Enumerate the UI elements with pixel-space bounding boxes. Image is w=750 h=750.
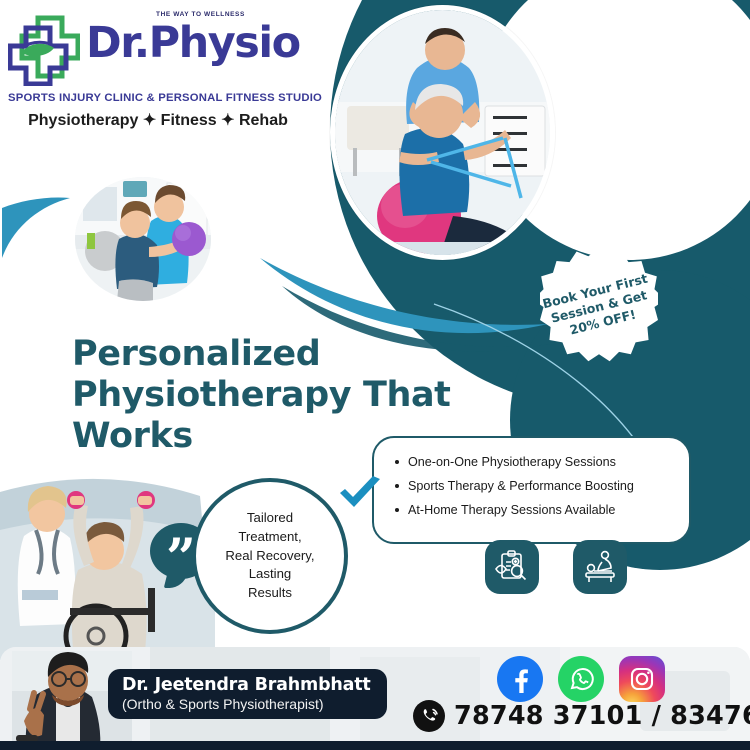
facebook-icon[interactable]: [497, 656, 543, 702]
poster-canvas: THE WAY TO WELLNESS Dr.Physio SPORTS INJ…: [0, 0, 750, 750]
doctor-name: Dr. Jeetendra Brahmbhatt: [122, 675, 371, 695]
doctor-title: (Ortho & Sports Physiotherapist): [122, 696, 371, 712]
logo-tagline-secondary: Physiotherapy ✦ Fitness ✦ Rehab: [8, 110, 308, 130]
clipboard-diagnosis-icon[interactable]: [485, 540, 539, 594]
features-card: One-on-One Physiotherapy Sessions Sports…: [372, 436, 691, 544]
phone-number: 78748 37101 / 83476 93569: [454, 701, 750, 731]
quote-line-2: Treatment,: [225, 528, 314, 547]
massage-table-icon[interactable]: [573, 540, 627, 594]
headline-line-2: Physiotherapy That: [72, 375, 472, 416]
social-links: [497, 656, 665, 702]
headline-line-1: Personalized: [72, 334, 472, 375]
list-item: One-on-One Physiotherapy Sessions: [408, 451, 679, 475]
quote-line-3: Real Recovery,: [225, 547, 314, 566]
brand-logo[interactable]: THE WAY TO WELLNESS Dr.Physio SPORTS INJ…: [8, 10, 308, 130]
doctor-name-card: Dr. Jeetendra Brahmbhatt (Ortho & Sports…: [108, 669, 387, 719]
logo-wellness-text: THE WAY TO WELLNESS: [156, 11, 245, 18]
medical-cross-hand-icon: [8, 14, 80, 86]
quote-line-5: Results: [225, 584, 314, 603]
quote-line-1: Tailored: [225, 509, 314, 528]
footer-bar: Dr. Jeetendra Brahmbhatt (Ortho & Sports…: [0, 647, 750, 750]
footer-bottom-strip: [0, 741, 750, 750]
logo-wordmark: Dr.Physio: [86, 22, 308, 65]
hero-photo: [330, 5, 555, 260]
phone-call-icon: [413, 700, 445, 732]
instagram-icon[interactable]: [619, 656, 665, 702]
phone-contact[interactable]: 78748 37101 / 83476 93569: [413, 700, 750, 732]
promo-badge[interactable]: Book Your First Session & Get 20% OFF!: [540, 248, 658, 366]
promo-badge-text: Book Your First Session & Get 20% OFF!: [527, 235, 670, 378]
whatsapp-icon[interactable]: [558, 656, 604, 702]
logo-tagline-primary: SPORTS INJURY CLINIC & PERSONAL FITNESS …: [8, 92, 308, 104]
quote-line-4: Lasting: [225, 565, 314, 584]
testimonial-circle: Tailored Treatment, Real Recovery, Lasti…: [192, 478, 348, 634]
list-item: Sports Therapy & Performance Boosting: [408, 475, 679, 499]
check-mark-icon: [337, 476, 383, 514]
child-therapy-photo: [70, 172, 216, 306]
list-item: At-Home Therapy Sessions Available: [408, 499, 679, 523]
